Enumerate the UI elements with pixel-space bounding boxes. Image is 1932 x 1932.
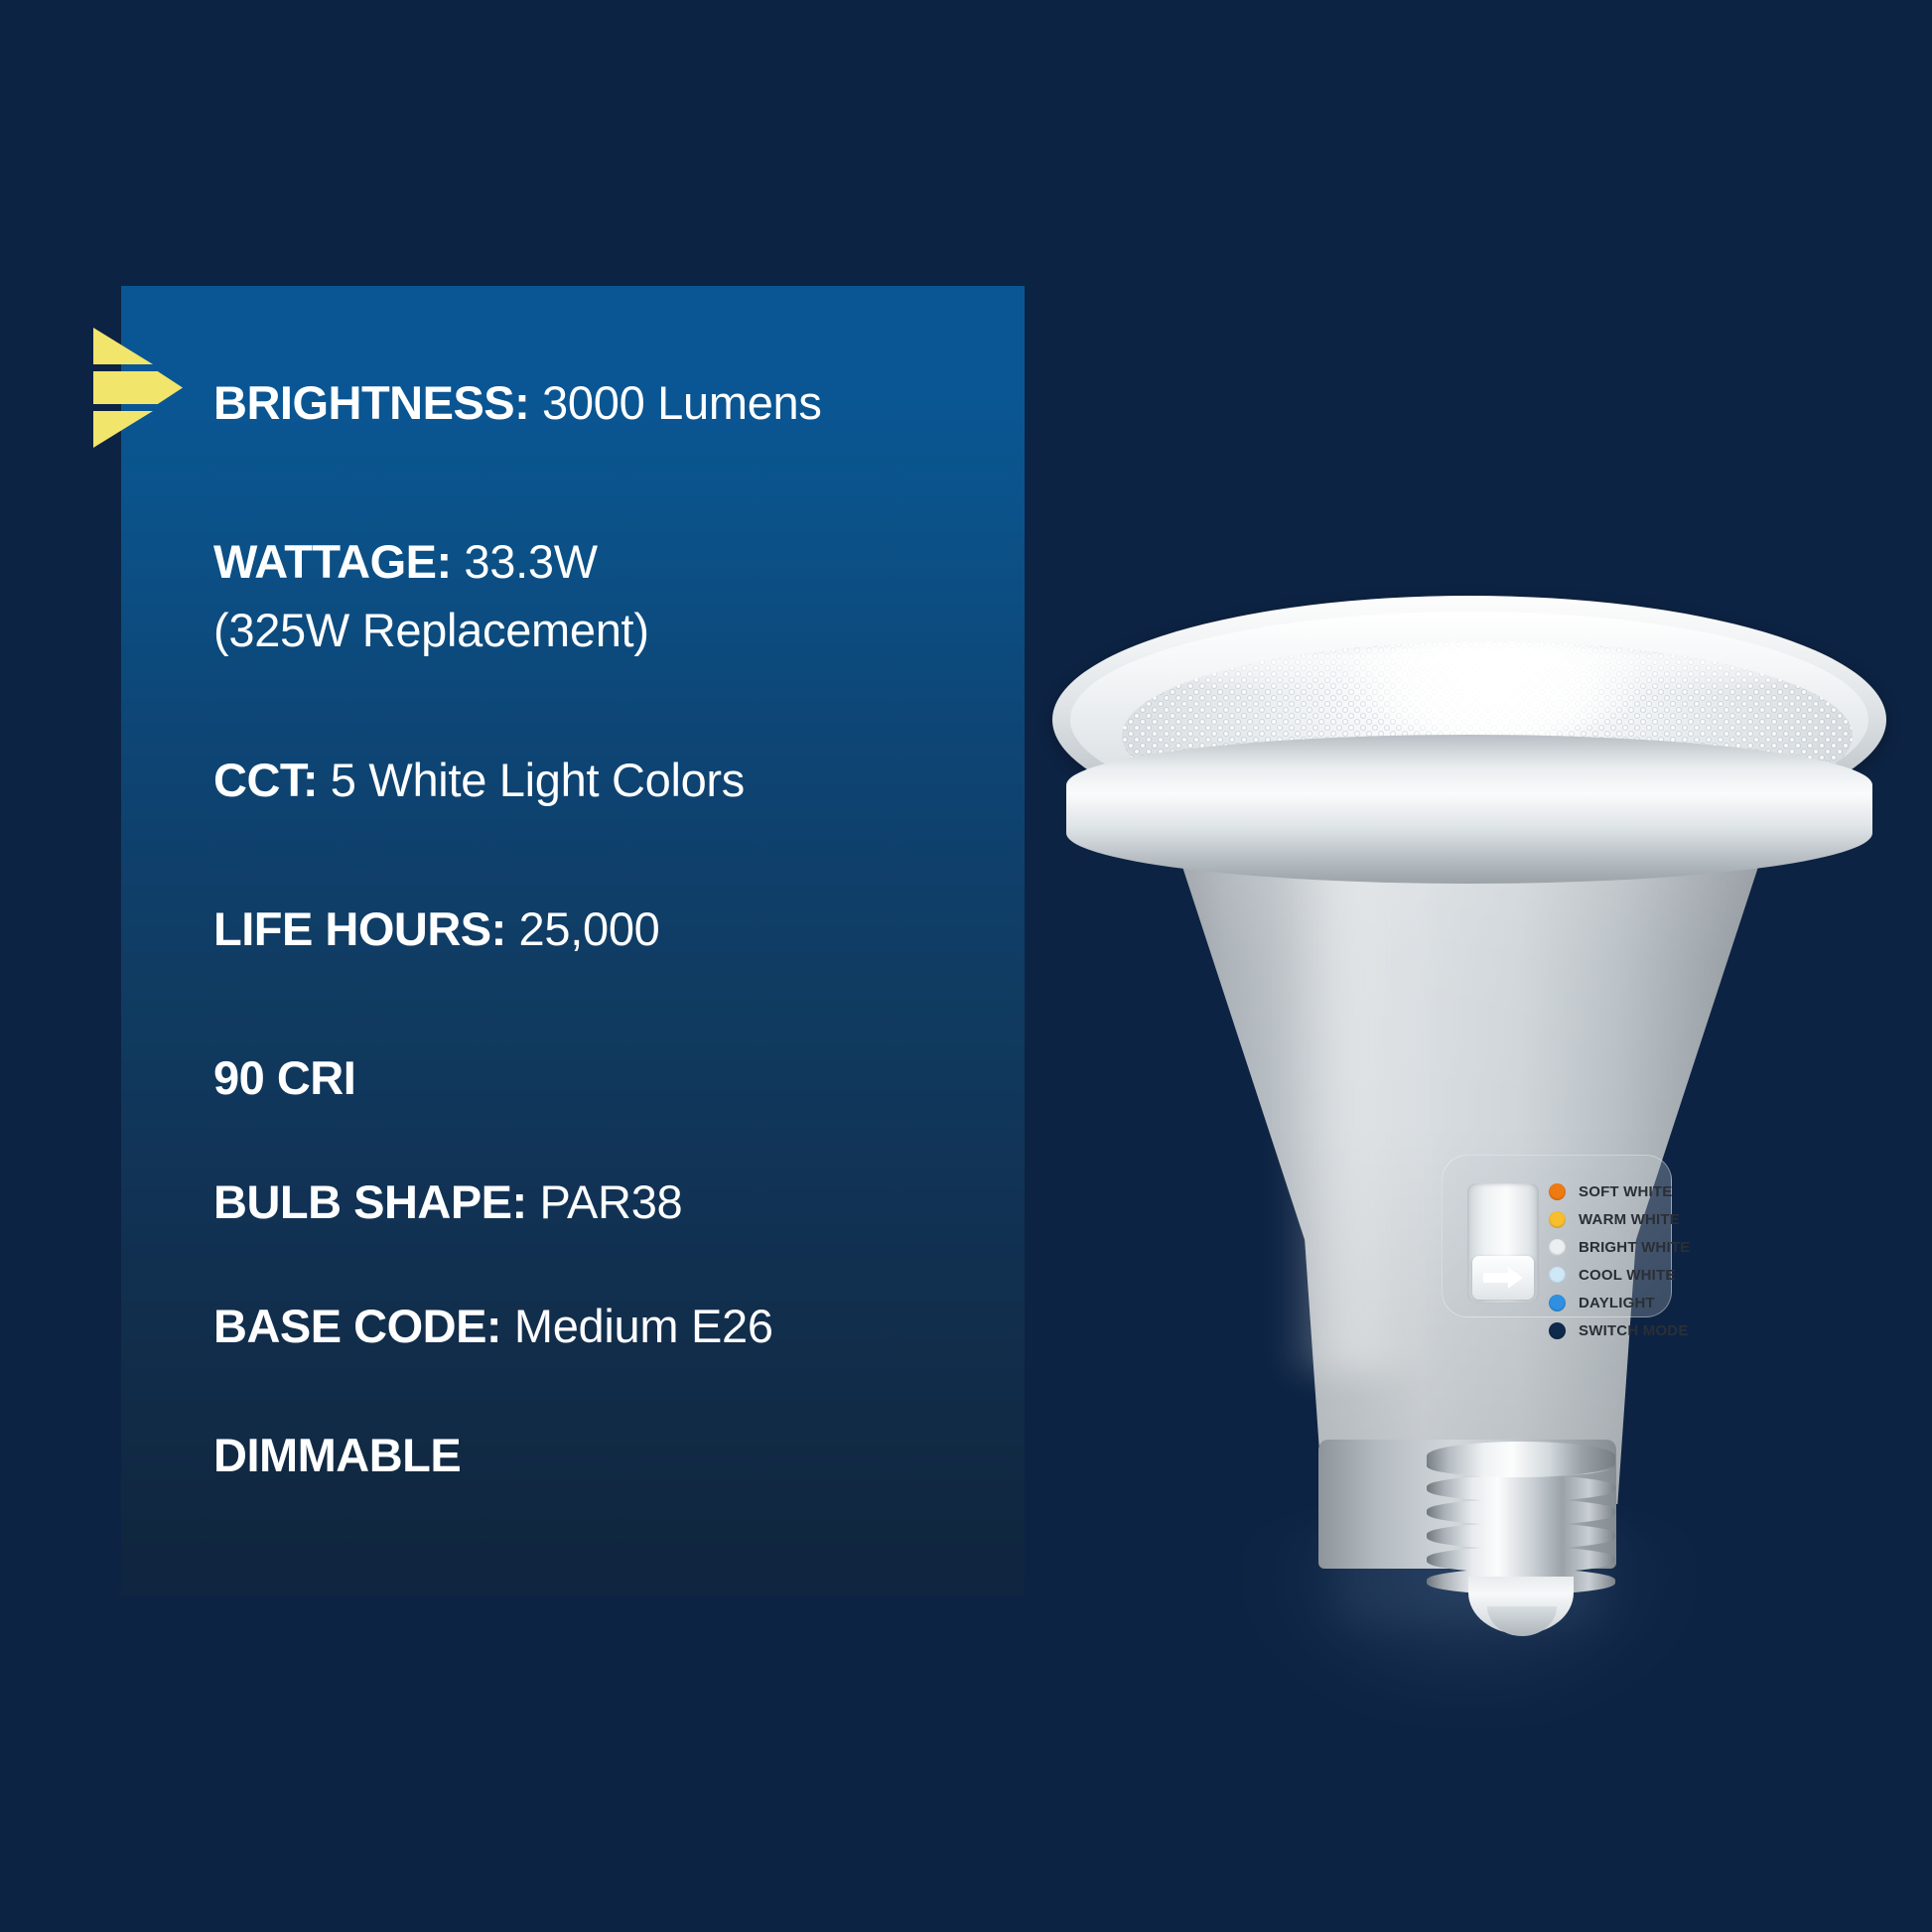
specifications-list: BRIGHTNESS: 3000 Lumens WATTAGE: 33.3W (… (213, 286, 1028, 1596)
right-arrow-switch-icon (1483, 1267, 1523, 1289)
product-spec-graphic: BRIGHTNESS: 3000 Lumens WATTAGE: 33.3W (… (0, 0, 1932, 1932)
legend-dot-soft-white (1549, 1183, 1566, 1200)
spec-subvalue-wattage-replacement: (325W Replacement) (213, 603, 649, 657)
legend-item-warm-white: WARM WHITE (1549, 1207, 1690, 1232)
legend-item-soft-white: SOFT WHITE (1549, 1179, 1690, 1204)
legend-dot-daylight (1549, 1295, 1566, 1311)
spec-row-cri: 90 CRI (213, 1050, 355, 1105)
spec-value-life-hours: 25,000 (506, 902, 660, 955)
screw-thread (1427, 1523, 1615, 1549)
legend-label-soft-white: SOFT WHITE (1579, 1183, 1673, 1200)
bulb-lens-gloss (1166, 647, 1809, 696)
legend-label-switch-mode: SWITCH MODE (1579, 1322, 1689, 1339)
legend-dot-switch-mode (1549, 1322, 1566, 1339)
bulb-reflector-highlight (1281, 816, 1430, 1372)
spec-row-cct: CCT: 5 White Light Colors (213, 753, 745, 807)
cct-switch-toggle[interactable] (1472, 1256, 1534, 1300)
spec-row-wattage: WATTAGE: 33.3W (325W Replacement) (213, 534, 649, 657)
legend-dot-bright-white (1549, 1239, 1566, 1256)
spec-row-dimmable: DIMMABLE (213, 1428, 461, 1482)
spec-label-cri: 90 CRI (213, 1051, 355, 1104)
legend-item-daylight: DAYLIGHT (1549, 1291, 1690, 1315)
spec-row-life-hours: LIFE HOURS: 25,000 (213, 901, 660, 956)
spec-label-base-code: BASE CODE: (213, 1300, 501, 1352)
par38-led-bulb-image (1052, 596, 1886, 1588)
specifications-panel: BRIGHTNESS: 3000 Lumens WATTAGE: 33.3W (… (121, 286, 1025, 1596)
bulb-lens-collar (1066, 735, 1872, 884)
spec-label-brightness: BRIGHTNESS: (213, 376, 529, 429)
double-chevron-right-arrow-icon (83, 328, 188, 437)
spec-label-life-hours: LIFE HOURS: (213, 902, 506, 955)
spec-value-wattage: 33.3W (452, 535, 598, 588)
spec-row-base-code: BASE CODE: Medium E26 (213, 1299, 773, 1353)
arrow-top-wedge (93, 328, 153, 364)
legend-item-bright-white: BRIGHT WHITE (1549, 1235, 1690, 1260)
spec-label-dimmable: DIMMABLE (213, 1429, 461, 1481)
screw-thread (1427, 1475, 1615, 1501)
legend-label-warm-white: WARM WHITE (1579, 1211, 1680, 1228)
cct-mode-legend: SOFT WHITE WARM WHITE BRIGHT WHITE COOL … (1549, 1179, 1690, 1346)
legend-dot-cool-white (1549, 1267, 1566, 1284)
legend-label-bright-white: BRIGHT WHITE (1579, 1239, 1690, 1256)
screw-thread (1427, 1499, 1615, 1525)
spec-value-brightness: 3000 Lumens (529, 376, 821, 429)
arrow-middle-pointer (93, 371, 183, 404)
spec-row-brightness: BRIGHTNESS: 3000 Lumens (213, 375, 822, 430)
spec-label-wattage: WATTAGE: (213, 535, 452, 588)
legend-label-cool-white: COOL WHITE (1579, 1267, 1676, 1284)
spec-value-bulb-shape: PAR38 (527, 1175, 683, 1228)
spec-row-bulb-shape: BULB SHAPE: PAR38 (213, 1174, 682, 1229)
spec-value-base-code: Medium E26 (501, 1300, 773, 1352)
spec-label-cct: CCT: (213, 754, 318, 806)
legend-dot-warm-white (1549, 1211, 1566, 1228)
legend-label-daylight: DAYLIGHT (1579, 1295, 1655, 1311)
spec-label-bulb-shape: BULB SHAPE: (213, 1175, 527, 1228)
spec-value-cct: 5 White Light Colors (318, 754, 745, 806)
bulb-base-collar (1427, 1442, 1615, 1477)
legend-item-cool-white: COOL WHITE (1549, 1263, 1690, 1288)
legend-item-switch-mode: SWITCH MODE (1549, 1318, 1690, 1343)
